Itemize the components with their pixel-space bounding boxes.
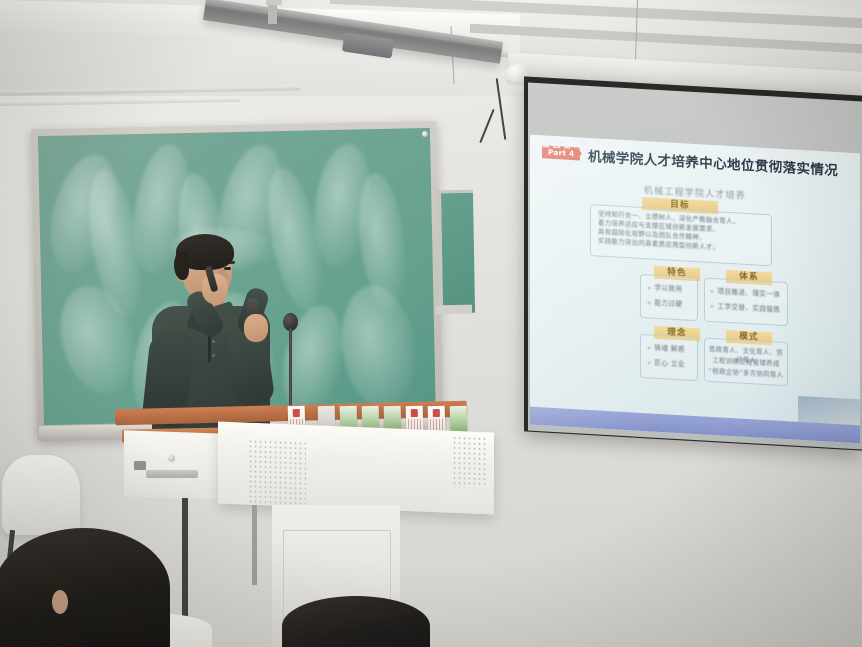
projection-screen: Part 4 机械学院人才培养中心地位贯彻落实情况 机械工程学院人才培养 目标 … [528, 83, 862, 450]
student-front-left-ear [52, 590, 68, 614]
bullet-arrow-icon: ▸ [648, 358, 651, 367]
bullet-arrow-icon: ▸ [711, 287, 714, 296]
microphone-stand-pole [289, 328, 292, 414]
classroom-chair [2, 455, 80, 535]
bullet-arrow-icon: ▸ [648, 298, 651, 307]
light-mount-stem [268, 2, 277, 24]
slide-corner-photo [798, 396, 860, 426]
podium-drawer-knob [168, 455, 175, 462]
light-mount-plate [266, 0, 282, 5]
podium-speaker-grille-right [452, 435, 486, 488]
podium-leg-right [252, 505, 257, 585]
book-cover-mark [293, 409, 300, 417]
box-feature-bullet-1: 学以致用 [654, 284, 682, 294]
student-front-center-head [282, 596, 430, 647]
presenter-hair-side [174, 252, 189, 280]
podium-speaker-grille-left [248, 439, 306, 507]
box-concept-bullet-2: 匠心 立业 [654, 359, 684, 369]
box-concept-bullet-1: 铸魂 解惑 [654, 344, 684, 354]
classroom-photo-scene: Part 4 机械学院人才培养中心地位贯彻落实情况 机械工程学院人才培养 目标 … [0, 0, 862, 647]
chalkboard-screw [422, 131, 428, 137]
podium-drawer-handle [146, 470, 198, 478]
podium-leg-left [182, 498, 188, 622]
student-front-left-head [0, 528, 170, 647]
box-feature-bullet-2: 能力过硬 [654, 299, 682, 309]
presentation-slide: Part 4 机械学院人才培养中心地位贯彻落实情况 机械工程学院人才培养 目标 … [530, 135, 860, 444]
bullet-arrow-icon: ▸ [648, 343, 651, 352]
chalkboard-secondary [437, 190, 475, 314]
book-cover-mark [411, 409, 418, 417]
bullet-arrow-icon: ▸ [711, 302, 714, 311]
book-cover-mark [433, 409, 440, 417]
presenter-right-hand [244, 314, 268, 342]
podium-control-panel [134, 461, 146, 470]
bullet-arrow-icon: ▸ [648, 283, 651, 292]
chalkboard-secondary-tray [436, 305, 472, 315]
